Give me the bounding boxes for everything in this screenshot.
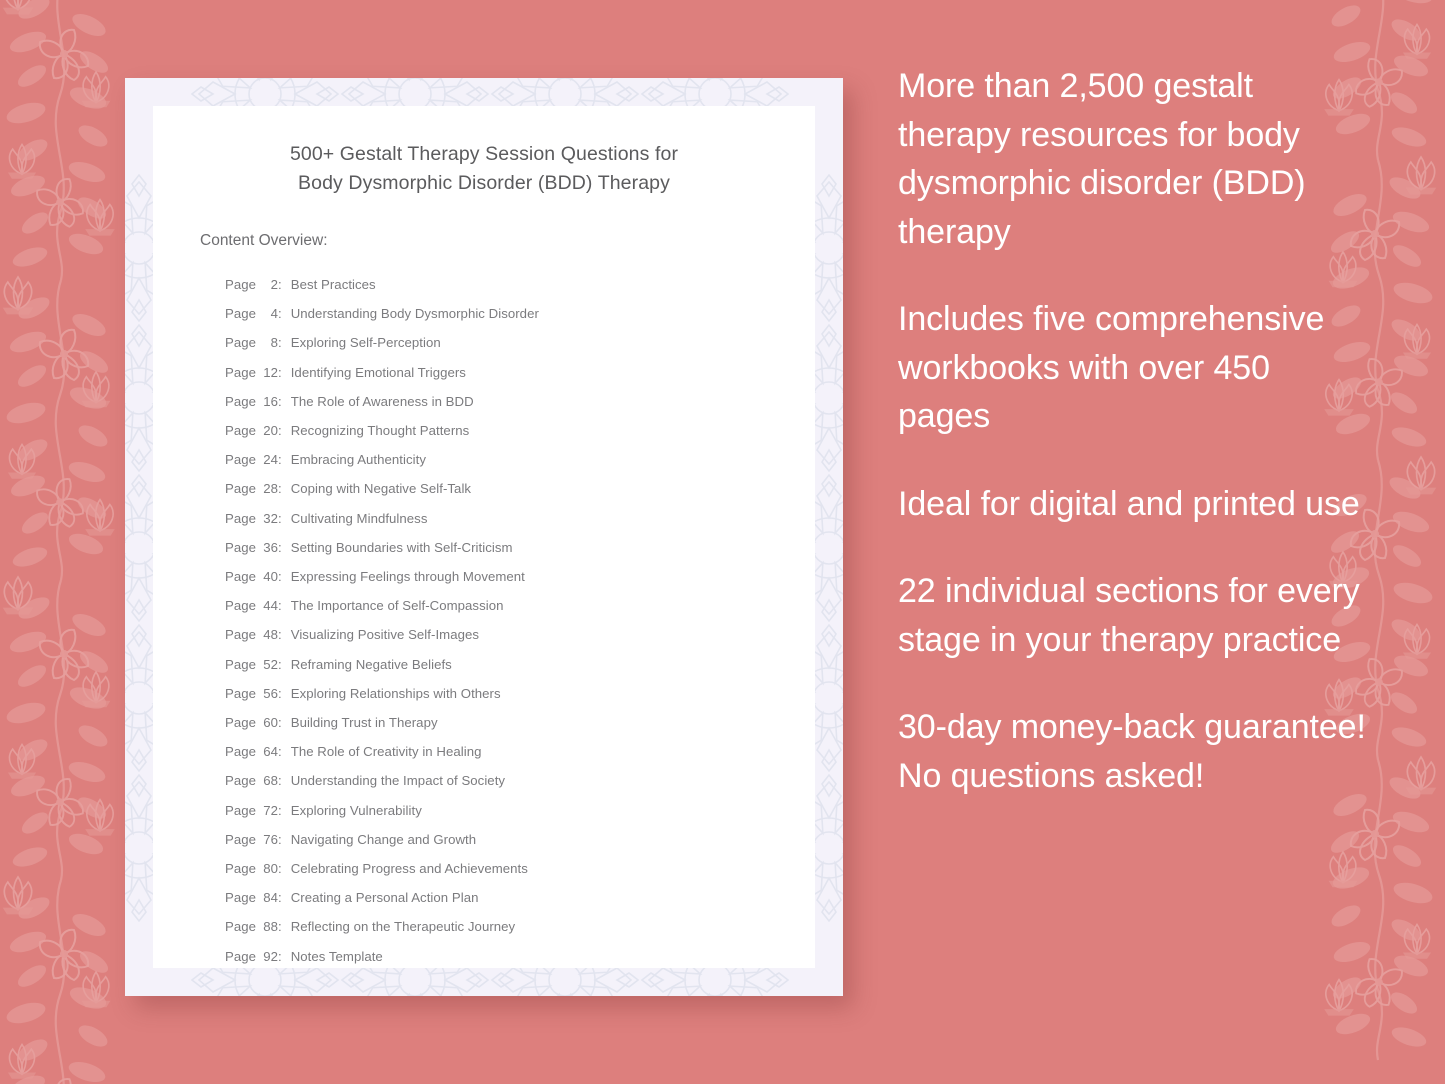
toc-page-word: Page bbox=[225, 591, 256, 620]
toc-page-word: Page bbox=[225, 416, 256, 445]
toc-page-number: 72 bbox=[256, 796, 278, 825]
toc-entry-title: Creating a Personal Action Plan bbox=[291, 883, 479, 912]
table-of-contents-row: Page88:Reflecting on the Therapeutic Jou… bbox=[225, 912, 771, 941]
toc-entry-title: Expressing Feelings through Movement bbox=[291, 562, 525, 591]
toc-entry-title: Celebrating Progress and Achievements bbox=[291, 854, 528, 883]
table-of-contents-row: Page64:The Role of Creativity in Healing bbox=[225, 737, 771, 766]
document-inner-page: 500+ Gestalt Therapy Session Questions f… bbox=[153, 106, 815, 968]
toc-page-word: Page bbox=[225, 533, 256, 562]
toc-page-word: Page bbox=[225, 942, 256, 971]
table-of-contents-row: Page12:Identifying Emotional Triggers bbox=[225, 358, 771, 387]
toc-page-number: 68 bbox=[256, 766, 278, 795]
toc-colon: : bbox=[278, 766, 282, 795]
toc-entry-title: The Role of Creativity in Healing bbox=[291, 737, 482, 766]
marketing-statement: 30-day money-back guarantee! No question… bbox=[898, 703, 1368, 800]
toc-entry-title: Exploring Relationships with Others bbox=[291, 679, 501, 708]
marketing-statement: Includes five comprehensive workbooks wi… bbox=[898, 295, 1368, 441]
toc-colon: : bbox=[278, 825, 282, 854]
toc-colon: : bbox=[278, 474, 282, 503]
toc-page-word: Page bbox=[225, 387, 256, 416]
toc-page-number: 60 bbox=[256, 708, 278, 737]
toc-colon: : bbox=[278, 650, 282, 679]
table-of-contents-row: Page44:The Importance of Self-Compassion bbox=[225, 591, 771, 620]
toc-entry-title: Coping with Negative Self-Talk bbox=[291, 474, 471, 503]
toc-page-word: Page bbox=[225, 474, 256, 503]
toc-page-number: 56 bbox=[256, 679, 278, 708]
table-of-contents-row: Page68:Understanding the Impact of Socie… bbox=[225, 766, 771, 795]
toc-page-number: 48 bbox=[256, 620, 278, 649]
toc-colon: : bbox=[278, 796, 282, 825]
toc-colon: : bbox=[278, 679, 282, 708]
table-of-contents-row: Page32:Cultivating Mindfulness bbox=[225, 504, 771, 533]
toc-colon: : bbox=[278, 562, 282, 591]
toc-page-number: 84 bbox=[256, 883, 278, 912]
table-of-contents-row: Page8:Exploring Self-Perception bbox=[225, 328, 771, 357]
toc-page-word: Page bbox=[225, 270, 256, 299]
toc-colon: : bbox=[278, 533, 282, 562]
toc-page-word: Page bbox=[225, 620, 256, 649]
document-title: 500+ Gestalt Therapy Session Questions f… bbox=[197, 140, 771, 198]
toc-page-number: 52 bbox=[256, 650, 278, 679]
toc-page-word: Page bbox=[225, 796, 256, 825]
toc-page-number: 32 bbox=[256, 504, 278, 533]
toc-colon: : bbox=[278, 708, 282, 737]
table-of-contents-row: Page60:Building Trust in Therapy bbox=[225, 708, 771, 737]
toc-entry-title: Visualizing Positive Self-Images bbox=[291, 620, 479, 649]
document-title-line-2: Body Dysmorphic Disorder (BDD) Therapy bbox=[205, 169, 763, 198]
toc-colon: : bbox=[278, 620, 282, 649]
toc-page-word: Page bbox=[225, 445, 256, 474]
toc-colon: : bbox=[278, 504, 282, 533]
toc-colon: : bbox=[278, 591, 282, 620]
toc-colon: : bbox=[278, 445, 282, 474]
content-overview-label: Content Overview: bbox=[200, 232, 771, 250]
toc-entry-title: Understanding Body Dysmorphic Disorder bbox=[291, 299, 539, 328]
marketing-statement: More than 2,500 gestalt therapy resource… bbox=[898, 62, 1368, 256]
toc-page-number: 24 bbox=[256, 445, 278, 474]
document-preview-card: 500+ Gestalt Therapy Session Questions f… bbox=[125, 78, 843, 996]
toc-colon: : bbox=[278, 883, 282, 912]
table-of-contents-row: Page48:Visualizing Positive Self-Images bbox=[225, 620, 771, 649]
toc-page-word: Page bbox=[225, 504, 256, 533]
table-of-contents-list: Page2:Best PracticesPage4:Understanding … bbox=[225, 270, 771, 971]
toc-page-word: Page bbox=[225, 854, 256, 883]
toc-page-number: 36 bbox=[256, 533, 278, 562]
toc-entry-title: Setting Boundaries with Self-Criticism bbox=[291, 533, 513, 562]
toc-entry-title: Exploring Vulnerability bbox=[291, 796, 422, 825]
table-of-contents-row: Page84:Creating a Personal Action Plan bbox=[225, 883, 771, 912]
table-of-contents-row: Page36:Setting Boundaries with Self-Crit… bbox=[225, 533, 771, 562]
toc-colon: : bbox=[278, 387, 282, 416]
toc-entry-title: Exploring Self-Perception bbox=[291, 328, 441, 357]
document-title-line-1: 500+ Gestalt Therapy Session Questions f… bbox=[205, 140, 763, 169]
toc-page-number: 8 bbox=[256, 328, 278, 357]
toc-page-number: 20 bbox=[256, 416, 278, 445]
toc-page-word: Page bbox=[225, 708, 256, 737]
toc-entry-title: The Importance of Self-Compassion bbox=[291, 591, 504, 620]
toc-page-word: Page bbox=[225, 825, 256, 854]
toc-page-word: Page bbox=[225, 679, 256, 708]
toc-entry-title: The Role of Awareness in BDD bbox=[291, 387, 474, 416]
table-of-contents-row: Page16:The Role of Awareness in BDD bbox=[225, 387, 771, 416]
toc-page-word: Page bbox=[225, 883, 256, 912]
toc-page-number: 12 bbox=[256, 358, 278, 387]
table-of-contents-row: Page28:Coping with Negative Self-Talk bbox=[225, 474, 771, 503]
toc-page-number: 64 bbox=[256, 737, 278, 766]
table-of-contents-row: Page24:Embracing Authenticity bbox=[225, 445, 771, 474]
table-of-contents-row: Page52:Reframing Negative Beliefs bbox=[225, 650, 771, 679]
table-of-contents-row: Page76:Navigating Change and Growth bbox=[225, 825, 771, 854]
toc-entry-title: Best Practices bbox=[291, 270, 376, 299]
toc-entry-title: Reframing Negative Beliefs bbox=[291, 650, 452, 679]
toc-page-number: 44 bbox=[256, 591, 278, 620]
toc-entry-title: Understanding the Impact of Society bbox=[291, 766, 505, 795]
marketing-statement: Ideal for digital and printed use bbox=[898, 480, 1368, 529]
toc-colon: : bbox=[278, 854, 282, 883]
marketing-statement: 22 individual sections for every stage i… bbox=[898, 567, 1368, 664]
toc-page-number: 16 bbox=[256, 387, 278, 416]
toc-entry-title: Cultivating Mindfulness bbox=[291, 504, 428, 533]
toc-colon: : bbox=[278, 270, 282, 299]
toc-colon: : bbox=[278, 328, 282, 357]
toc-entry-title: Notes Template bbox=[291, 942, 383, 971]
toc-colon: : bbox=[278, 416, 282, 445]
toc-page-word: Page bbox=[225, 328, 256, 357]
table-of-contents-row: Page4:Understanding Body Dysmorphic Diso… bbox=[225, 299, 771, 328]
toc-entry-title: Identifying Emotional Triggers bbox=[291, 358, 466, 387]
marketing-copy-column: More than 2,500 gestalt therapy resource… bbox=[898, 62, 1368, 800]
toc-page-word: Page bbox=[225, 766, 256, 795]
table-of-contents-row: Page72:Exploring Vulnerability bbox=[225, 796, 771, 825]
floral-border-left-decoration bbox=[0, 0, 136, 1084]
toc-page-number: 92 bbox=[256, 942, 278, 971]
toc-page-word: Page bbox=[225, 358, 256, 387]
table-of-contents-row: Page40:Expressing Feelings through Movem… bbox=[225, 562, 771, 591]
toc-entry-title: Building Trust in Therapy bbox=[291, 708, 438, 737]
toc-entry-title: Navigating Change and Growth bbox=[291, 825, 476, 854]
toc-colon: : bbox=[278, 299, 282, 328]
table-of-contents-row: Page56:Exploring Relationships with Othe… bbox=[225, 679, 771, 708]
toc-page-word: Page bbox=[225, 912, 256, 941]
toc-page-number: 88 bbox=[256, 912, 278, 941]
table-of-contents-row: Page20:Recognizing Thought Patterns bbox=[225, 416, 771, 445]
toc-page-number: 4 bbox=[256, 299, 278, 328]
toc-page-number: 80 bbox=[256, 854, 278, 883]
toc-colon: : bbox=[278, 912, 282, 941]
toc-page-number: 76 bbox=[256, 825, 278, 854]
toc-colon: : bbox=[278, 942, 282, 971]
table-of-contents-row: Page80:Celebrating Progress and Achievem… bbox=[225, 854, 771, 883]
toc-page-word: Page bbox=[225, 299, 256, 328]
toc-page-word: Page bbox=[225, 737, 256, 766]
toc-entry-title: Recognizing Thought Patterns bbox=[291, 416, 470, 445]
toc-page-word: Page bbox=[225, 650, 256, 679]
toc-entry-title: Reflecting on the Therapeutic Journey bbox=[291, 912, 515, 941]
table-of-contents-row: Page92:Notes Template bbox=[225, 942, 771, 971]
toc-colon: : bbox=[278, 358, 282, 387]
table-of-contents-row: Page2:Best Practices bbox=[225, 270, 771, 299]
toc-entry-title: Embracing Authenticity bbox=[291, 445, 426, 474]
toc-page-number: 2 bbox=[256, 270, 278, 299]
toc-page-word: Page bbox=[225, 562, 256, 591]
toc-page-number: 40 bbox=[256, 562, 278, 591]
toc-colon: : bbox=[278, 737, 282, 766]
toc-page-number: 28 bbox=[256, 474, 278, 503]
